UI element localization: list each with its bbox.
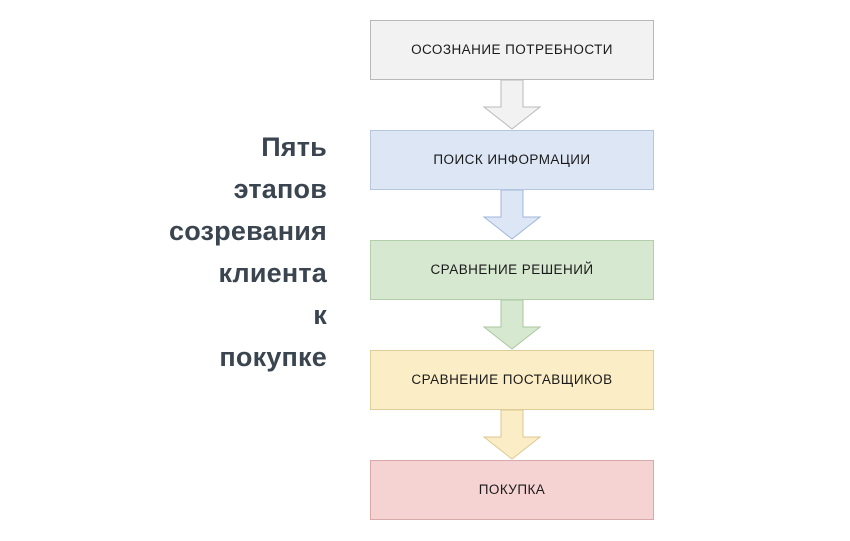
down-block-arrow-icon	[482, 300, 542, 350]
stage-box-1[interactable]: ОСОЗНАНИЕ ПОТРЕБНОСТИ	[370, 20, 654, 80]
stage-label-1: ОСОЗНАНИЕ ПОТРЕБНОСТИ	[411, 42, 613, 58]
stage-label-5: ПОКУПКА	[479, 482, 546, 498]
stage-box-3[interactable]: СРАВНЕНИЕ РЕШЕНИЙ	[370, 240, 654, 300]
diagram-canvas: Пять этапов созревания клиента к покупке…	[0, 0, 850, 541]
connector-arrow-2	[482, 190, 542, 240]
connector-arrow-4	[482, 410, 542, 460]
down-block-arrow-icon	[482, 410, 542, 460]
customer-journey-flow: ОСОЗНАНИЕ ПОТРЕБНОСТИ ПОИСК ИНФОРМАЦИИ С…	[370, 20, 654, 520]
stage-box-5[interactable]: ПОКУПКА	[370, 460, 654, 520]
stage-label-3: СРАВНЕНИЕ РЕШЕНИЙ	[430, 262, 593, 278]
connector-arrow-1	[482, 80, 542, 130]
down-block-arrow-icon	[482, 80, 542, 130]
diagram-title: Пять этапов созревания клиента к покупке	[155, 126, 327, 378]
stage-label-4: СРАВНЕНИЕ ПОСТАВЩИКОВ	[411, 372, 612, 388]
stage-label-2: ПОИСК ИНФОРМАЦИИ	[433, 152, 590, 168]
down-block-arrow-icon	[482, 190, 542, 240]
stage-box-2[interactable]: ПОИСК ИНФОРМАЦИИ	[370, 130, 654, 190]
stage-box-4[interactable]: СРАВНЕНИЕ ПОСТАВЩИКОВ	[370, 350, 654, 410]
connector-arrow-3	[482, 300, 542, 350]
